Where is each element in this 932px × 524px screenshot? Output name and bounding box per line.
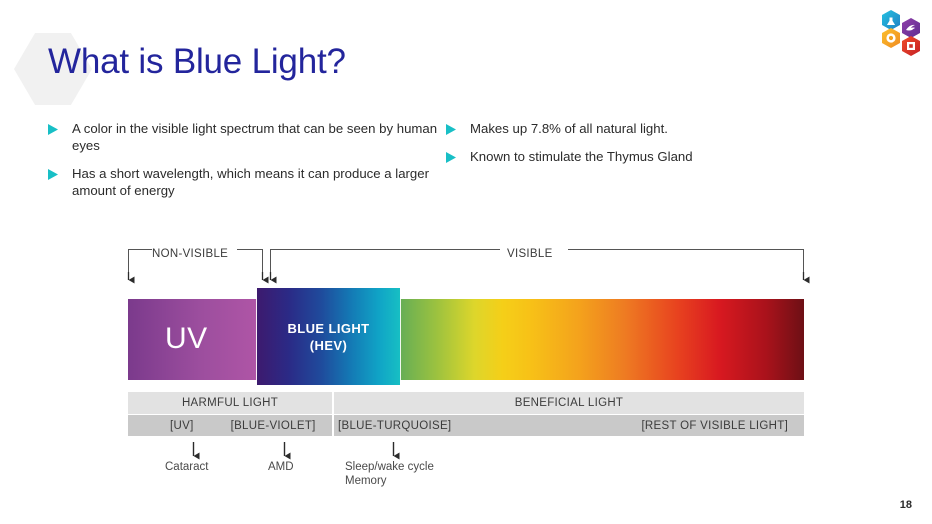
blue-light-hev-box: BLUE LIGHT (HEV) [257, 288, 400, 385]
band-label-uv: [UV] [170, 420, 194, 432]
band-label-blue-turquoise: [BLUE-TURQUOISE] [338, 420, 451, 432]
effect-label-sleep-wake-line1: Sleep/wake cycle [345, 460, 434, 474]
bracket-and-arrow-lines [0, 0, 932, 524]
blue-light-subtitle: (HEV) [310, 337, 347, 354]
uv-label: UV [165, 322, 208, 356]
blue-light-title: BLUE LIGHT [288, 320, 370, 337]
bracket-label-non-visible: NON-VISIBLE [152, 248, 228, 260]
spectrum-segment-visible [333, 299, 804, 380]
band-beneficial-light: BENEFICIAL LIGHT [334, 392, 804, 414]
spectrum-bar [128, 299, 804, 380]
effect-label-sleep-wake-line2: Memory [345, 474, 434, 488]
bracket-label-visible: VISIBLE [507, 248, 553, 260]
band-label-blue-violet: [BLUE-VIOLET] [231, 420, 316, 432]
effect-label-cataract: Cataract [165, 460, 208, 474]
band-label-row-beneficial: [BLUE-TURQUOISE] [REST OF VISIBLE LIGHT] [334, 415, 804, 436]
slide-canvas: What is Blue Light? A color in the visib… [0, 0, 932, 524]
page-number: 18 [900, 499, 912, 511]
effect-label-amd: AMD [268, 460, 294, 474]
band-harmful-light: HARMFUL LIGHT [128, 392, 332, 414]
band-label-row-harmful: [UV] [BLUE-VIOLET] [128, 415, 332, 436]
effect-label-sleep-wake: Sleep/wake cycle Memory [345, 460, 434, 488]
light-spectrum-diagram: NON-VISIBLE VISIBLE UV BLUE LIGHT (HEV) … [0, 0, 932, 524]
band-label-rest-of-visible: [REST OF VISIBLE LIGHT] [641, 420, 788, 432]
